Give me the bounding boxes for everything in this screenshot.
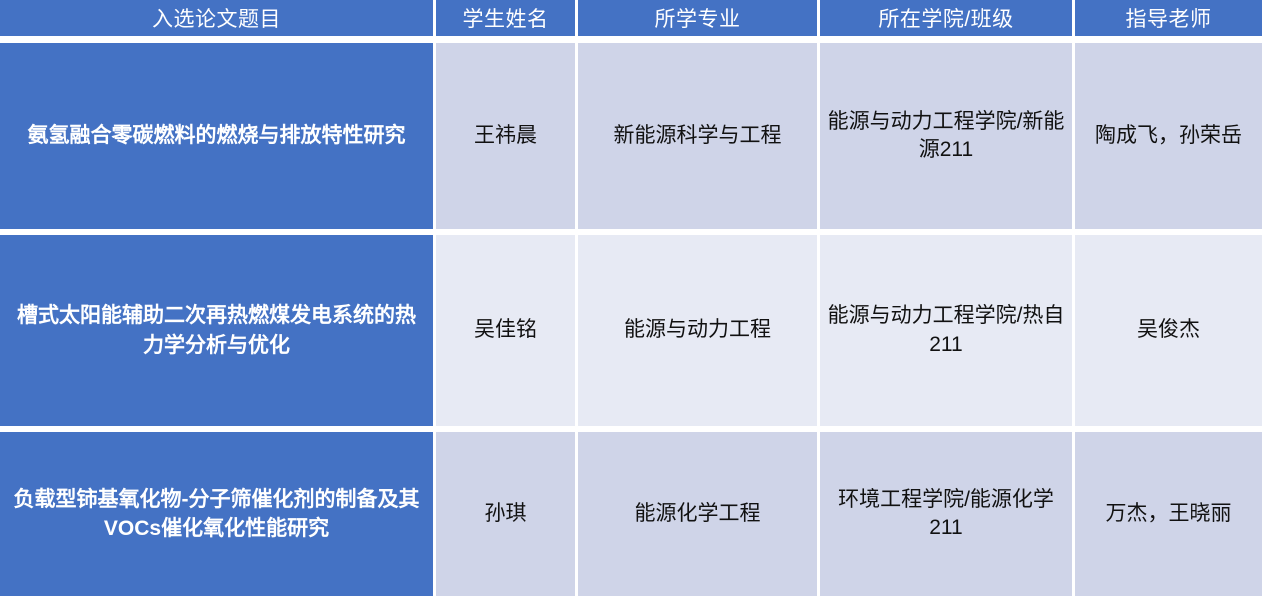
table-row: 氨氢融合零碳燃料的燃烧与排放特性研究 王祎晨 新能源科学与工程 能源与动力工程学… [0,43,1262,235]
column-header-teacher: 指导老师 [1075,0,1262,43]
cell-advisor: 吴俊杰 [1075,235,1262,432]
table-header-row: 入选论文题目 学生姓名 所学专业 所在学院/班级 指导老师 [0,0,1262,43]
cell-major: 能源与动力工程 [578,235,820,432]
cell-major: 能源化学工程 [578,432,820,596]
column-header-major: 所学专业 [578,0,820,43]
cell-paper-title: 负载型铈基氧化物-分子筛催化剂的制备及其VOCs催化氧化性能研究 [0,432,436,596]
cell-college-class: 能源与动力工程学院/新能源211 [820,43,1075,235]
column-header-title: 入选论文题目 [0,0,436,43]
cell-student-name: 王祎晨 [436,43,578,235]
table-header: 入选论文题目 学生姓名 所学专业 所在学院/班级 指导老师 [0,0,1262,43]
cell-college-class: 环境工程学院/能源化学211 [820,432,1075,596]
cell-student-name: 孙琪 [436,432,578,596]
cell-paper-title: 槽式太阳能辅助二次再热燃煤发电系统的热力学分析与优化 [0,235,436,432]
cell-paper-title: 氨氢融合零碳燃料的燃烧与排放特性研究 [0,43,436,235]
cell-advisor: 陶成飞，孙荣岳 [1075,43,1262,235]
selected-papers-table: 入选论文题目 学生姓名 所学专业 所在学院/班级 指导老师 氨氢融合零碳燃料的燃… [0,0,1262,596]
table-body: 氨氢融合零碳燃料的燃烧与排放特性研究 王祎晨 新能源科学与工程 能源与动力工程学… [0,43,1262,596]
cell-student-name: 吴佳铭 [436,235,578,432]
cell-advisor: 万杰，王晓丽 [1075,432,1262,596]
table-row: 槽式太阳能辅助二次再热燃煤发电系统的热力学分析与优化 吴佳铭 能源与动力工程 能… [0,235,1262,432]
table-row: 负载型铈基氧化物-分子筛催化剂的制备及其VOCs催化氧化性能研究 孙琪 能源化学… [0,432,1262,596]
cell-major: 新能源科学与工程 [578,43,820,235]
column-header-college: 所在学院/班级 [820,0,1075,43]
cell-college-class: 能源与动力工程学院/热自211 [820,235,1075,432]
column-header-student: 学生姓名 [436,0,578,43]
